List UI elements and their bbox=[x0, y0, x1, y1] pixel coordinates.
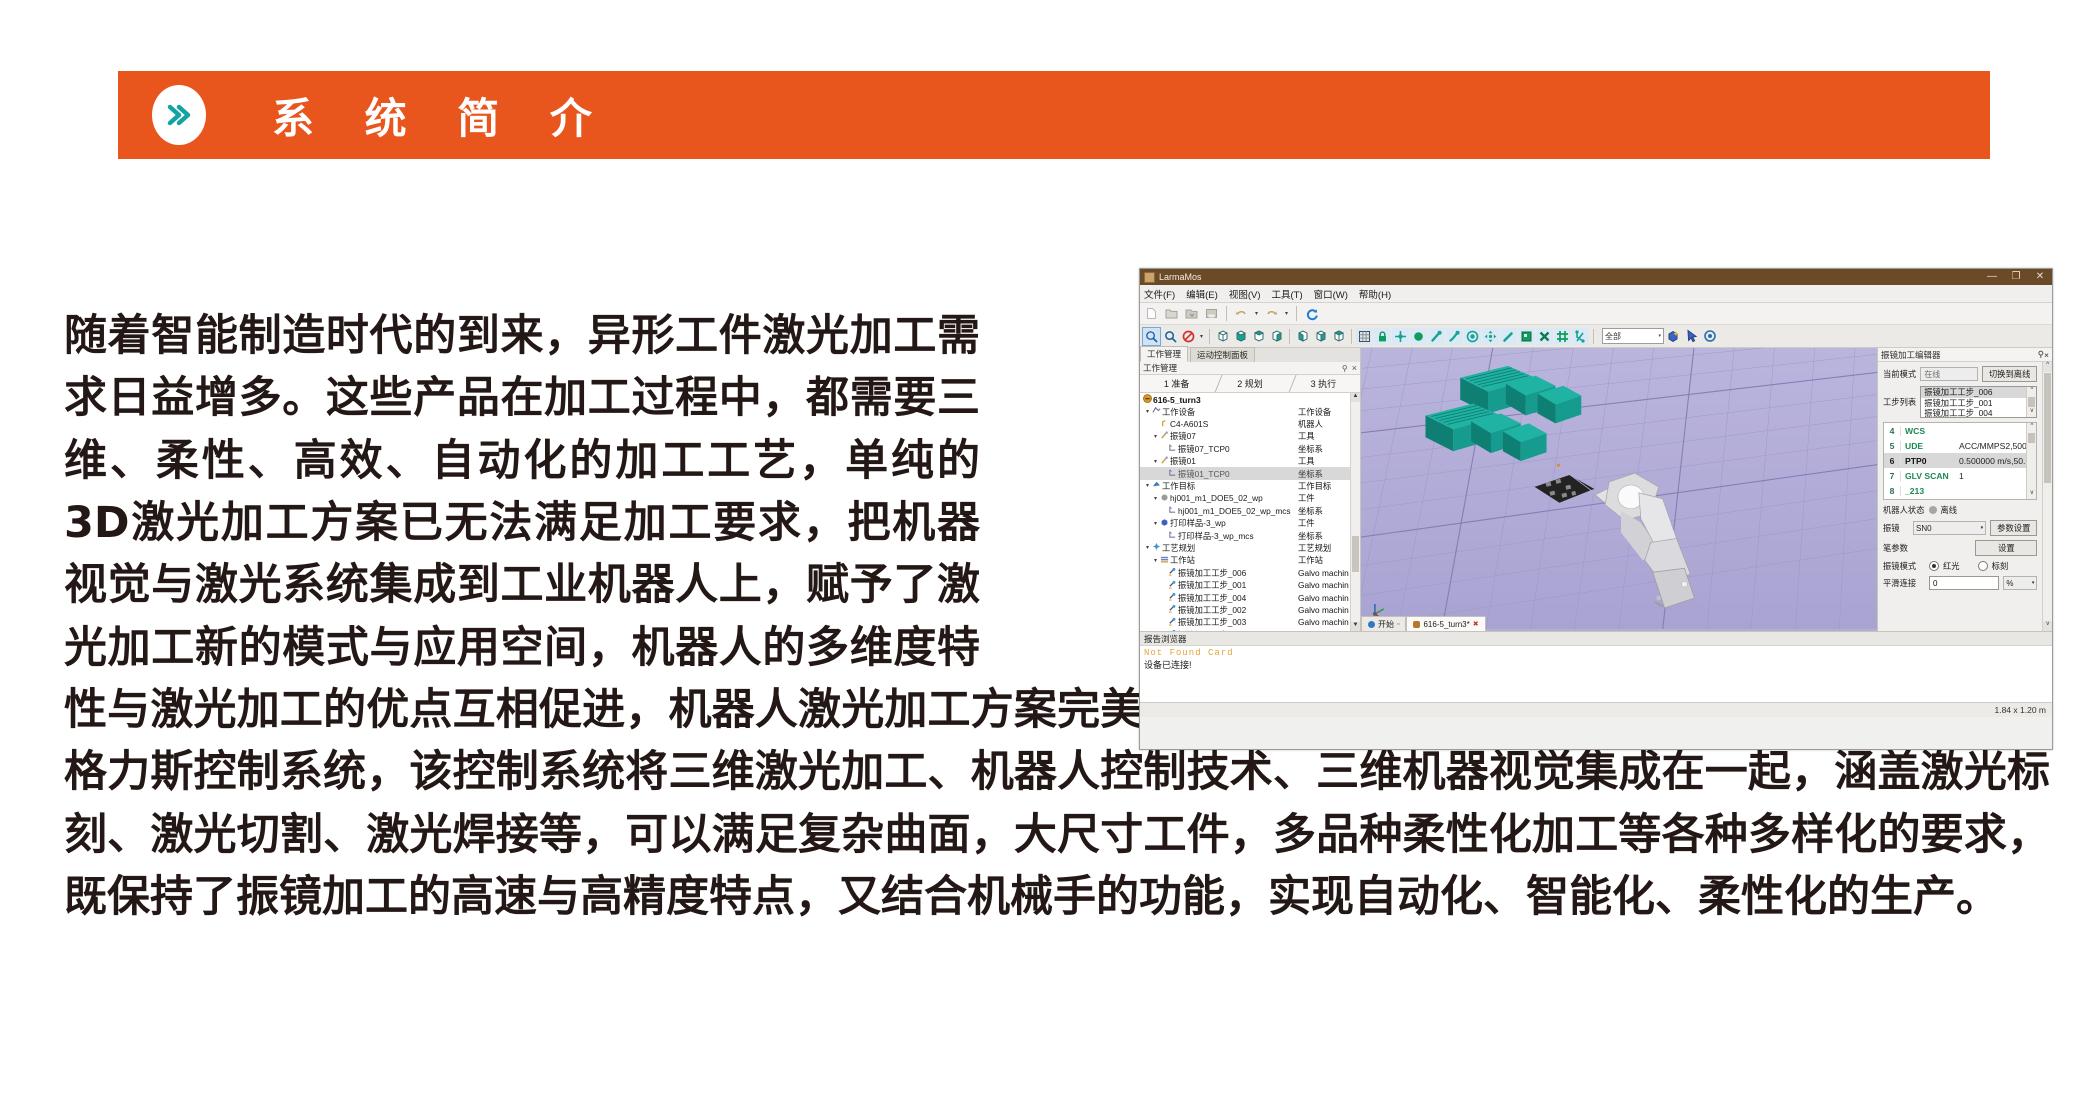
pin-icon[interactable]: ⚲ bbox=[1342, 364, 1348, 373]
3d-viewport[interactable]: 开始 ▫ 616-5_turn3* ✖ bbox=[1361, 348, 1877, 631]
tree-row-label: 振镜加工工步_001 bbox=[1178, 579, 1298, 591]
view-dropdown-icon[interactable]: ▾ bbox=[1198, 328, 1205, 345]
close-icon[interactable]: ✖ bbox=[1473, 620, 1479, 628]
list-item[interactable]: 振镜加工工步_001 bbox=[1921, 398, 2036, 409]
brush-tool-icon[interactable] bbox=[1500, 328, 1517, 345]
new-document-icon[interactable] bbox=[1143, 305, 1160, 322]
tree-row-label: 振镜加工工步_007 bbox=[1178, 629, 1298, 631]
step-listbox[interactable]: 振镜加工工步_006 振镜加工工步_001 振镜加工工步_004 ^ v bbox=[1920, 386, 2037, 418]
command-index: 6 bbox=[1884, 456, 1901, 466]
tree-twisty-icon[interactable]: ▾ bbox=[1152, 458, 1159, 465]
command-opcode: _213 bbox=[1901, 486, 1959, 496]
view-iso3-icon[interactable] bbox=[1330, 328, 1347, 345]
command-opcode: PTP0 bbox=[1901, 456, 1959, 466]
pen-settings-button[interactable]: 设置 bbox=[1975, 540, 2037, 556]
report-browser-body: Not Found Card 设备已连接! bbox=[1140, 646, 2052, 702]
node-tool-icon[interactable] bbox=[1572, 328, 1589, 345]
smooth-input[interactable]: 0 bbox=[1929, 576, 1999, 590]
pen-param-row: 笔参数 设置 bbox=[1883, 540, 2037, 556]
tree-root-label: 616-5_turn3 bbox=[1153, 395, 1201, 405]
select-box-icon[interactable] bbox=[1665, 328, 1682, 345]
smooth-row: 平滑连接 0 % ▾ bbox=[1883, 576, 2037, 590]
command-rows-container: 4WCS5UDEACC/MMPS2,500....6PTP00.500000 m… bbox=[1884, 423, 2036, 500]
scroll-up-icon[interactable]: ^ bbox=[2043, 362, 2052, 372]
tree-scrollbar[interactable]: ▲ ▼ bbox=[1350, 393, 1360, 631]
radio-red-light-label: 红光 bbox=[1943, 560, 1960, 572]
tree-row-label: 振镜加工工步_002 bbox=[1178, 604, 1298, 616]
close-icon[interactable]: ▫ bbox=[1397, 621, 1399, 628]
scroll-down-icon[interactable]: v bbox=[2043, 621, 2052, 631]
tree-twisty-icon[interactable]: ▾ bbox=[1144, 482, 1151, 489]
tree-twisty-icon[interactable]: ▾ bbox=[1144, 408, 1151, 415]
tree-row[interactable]: ▾hj001_m1_DOE5_02_wp工件 bbox=[1140, 492, 1360, 504]
tree-row-label: 工艺规划 bbox=[1162, 542, 1298, 554]
switch-offline-button[interactable]: 切换到离线 bbox=[1982, 366, 2038, 382]
tree-row-label: C4-A601S bbox=[1170, 419, 1298, 429]
left-panel-title: 工作管理 bbox=[1143, 362, 1177, 374]
open-folder-icon[interactable] bbox=[1163, 305, 1180, 322]
mode-row: 当前模式 在线 切换到离线 bbox=[1883, 366, 2037, 382]
cursor-arrow-icon[interactable] bbox=[1683, 328, 1700, 345]
tree-row[interactable]: 振镜加工工步_002Galvo machin bbox=[1140, 604, 1360, 616]
toolbar-separator bbox=[1296, 306, 1297, 321]
view-right-icon[interactable] bbox=[1268, 328, 1285, 345]
application-window-screenshot: LarmaMos — ❐ ✕ 文件(F) 编辑(E) 视图(V) 工具(T) 窗… bbox=[1139, 268, 2053, 750]
command-scrollbar[interactable]: ^ v bbox=[2026, 423, 2036, 499]
menu-item-tools[interactable]: 工具(T) bbox=[1271, 287, 1302, 301]
save-icon[interactable] bbox=[1183, 305, 1200, 322]
scroll-thumb[interactable] bbox=[2028, 397, 2035, 407]
dock-tabstrip: 工作管理 运动控制面板 bbox=[1140, 348, 1360, 362]
tree-row[interactable]: ▾工作站工作站 bbox=[1140, 554, 1360, 566]
command-opcode: WCS bbox=[1901, 426, 1959, 436]
tree-row-label: 工作设备 bbox=[1162, 406, 1298, 418]
scroll-up-icon[interactable]: ▲ bbox=[1351, 393, 1360, 402]
close-icon[interactable]: × bbox=[2044, 350, 2049, 360]
tree-row[interactable]: 打印样品-3_wp_mcs坐标系 bbox=[1140, 529, 1360, 541]
smooth-label: 平滑连接 bbox=[1883, 577, 1925, 589]
delete-tool-icon[interactable] bbox=[1536, 328, 1553, 345]
minimize-button[interactable]: — bbox=[1980, 269, 2004, 285]
scroll-thumb[interactable] bbox=[2044, 373, 2051, 483]
command-row[interactable]: 7GLV SCAN1 bbox=[1884, 468, 2036, 483]
tree-row-label: 振镜01 bbox=[1170, 455, 1298, 467]
tool-icon bbox=[1159, 456, 1170, 467]
toolbar-file-row: ▾ ▾ bbox=[1140, 303, 2052, 325]
scroll-down-icon[interactable]: v bbox=[2027, 490, 2036, 499]
report-line-info: 设备已连接! bbox=[1144, 658, 2048, 671]
radio-marking-label: 标刻 bbox=[1992, 560, 2009, 572]
tool-icon bbox=[1159, 431, 1170, 442]
home-icon bbox=[1368, 621, 1375, 628]
menu-item-file[interactable]: 文件(F) bbox=[1144, 287, 1175, 301]
circle-tool-icon[interactable] bbox=[1464, 328, 1481, 345]
command-opcode: UDE bbox=[1901, 441, 1959, 451]
right-panel-title: 振镜加工编辑器 bbox=[1881, 349, 1941, 361]
galvo-icon bbox=[1167, 592, 1178, 603]
command-index: 5 bbox=[1884, 441, 1901, 451]
zoom-window-icon[interactable] bbox=[1142, 327, 1161, 346]
chevron-down-icon: ▾ bbox=[1981, 525, 1984, 531]
object-tree[interactable]: 616-5_turn3 ▾工作设备工作设备C4-A601S机器人▾振镜07工具振… bbox=[1140, 393, 1360, 631]
workflow-steps: 1 准备 2 规划 3 执行 bbox=[1140, 375, 1360, 393]
point-icon[interactable] bbox=[1410, 328, 1427, 345]
tree-row[interactable]: C4-A601S机器人 bbox=[1140, 418, 1360, 430]
report-browser-titlebar: 报告浏览器 bbox=[1140, 631, 2052, 646]
command-arguments: ACC/MMPS2,500.... bbox=[1959, 441, 2036, 451]
scroll-down-icon[interactable]: v bbox=[2027, 408, 2036, 417]
radio-marking[interactable] bbox=[1978, 561, 1988, 571]
view-iso2-icon[interactable] bbox=[1312, 328, 1329, 345]
param-settings-button[interactable]: 参数设置 bbox=[1990, 520, 2037, 536]
step-plan[interactable]: 2 规划 bbox=[1213, 375, 1286, 392]
toolbar-separator bbox=[1226, 306, 1227, 321]
main-work-area: 工作管理 运动控制面板 工作管理 ⚲ × 1 准备 2 规划 3 执行 616 bbox=[1140, 348, 2052, 631]
listbox-scrollbar[interactable]: ^ v bbox=[2026, 387, 2036, 417]
galvo-mode-label: 振镜模式 bbox=[1883, 560, 1925, 572]
undo-icon[interactable] bbox=[1233, 305, 1250, 322]
redo-dropdown-icon[interactable]: ▾ bbox=[1283, 305, 1290, 322]
command-arguments: 0.500000 m/s,50.... bbox=[1959, 456, 2036, 466]
tree-root-row[interactable]: 616-5_turn3 bbox=[1140, 393, 1360, 405]
steplist-label: 工步列表 bbox=[1883, 396, 1916, 408]
right-panel-scrollbar[interactable]: ^ v bbox=[2042, 362, 2052, 631]
tree-row-label: hj001_m1_DOE5_02_wp_mcs bbox=[1178, 506, 1298, 516]
project-icon bbox=[1142, 394, 1153, 405]
galvo-icon bbox=[1167, 567, 1178, 578]
dock-tab-motion-control[interactable]: 运动控制面板 bbox=[1190, 347, 1255, 362]
tree-twisty-icon[interactable]: ▾ bbox=[1152, 495, 1159, 502]
smooth-unit-select[interactable]: % ▾ bbox=[2003, 576, 2037, 590]
tree-twisty-icon[interactable]: ▾ bbox=[1152, 433, 1159, 440]
tree-row-label: 打印样品-3_wp bbox=[1170, 517, 1298, 529]
page-title: 系 统 简 介 bbox=[272, 85, 610, 146]
command-table[interactable]: 4WCS5UDEACC/MMPS2,500....6PTP00.500000 m… bbox=[1883, 422, 2037, 500]
tree-row[interactable]: 振镜07_TCP0坐标系 bbox=[1140, 443, 1360, 455]
tree-row[interactable]: hj001_m1_DOE5_02_wp_mcs坐标系 bbox=[1140, 505, 1360, 517]
list-item[interactable]: 振镜加工工步_004 bbox=[1921, 408, 2036, 418]
robot-status-row: 机器人状态 离线 bbox=[1883, 504, 2037, 516]
settings-gear-icon[interactable] bbox=[1701, 328, 1718, 345]
step-prepare[interactable]: 1 准备 bbox=[1140, 375, 1213, 392]
report-browser-title: 报告浏览器 bbox=[1144, 633, 1187, 645]
galvo-select[interactable]: SN0 ▾ bbox=[1913, 521, 1986, 535]
station-icon bbox=[1159, 555, 1170, 566]
tree-twisty-icon[interactable]: ▾ bbox=[1144, 544, 1151, 551]
menu-item-edit[interactable]: 编辑(E) bbox=[1186, 287, 1218, 301]
tree-row-label: 振镜01_TCP0 bbox=[1178, 468, 1298, 480]
scroll-thumb[interactable] bbox=[2028, 433, 2035, 443]
status-indicator-dot bbox=[1929, 506, 1937, 514]
robot-icon bbox=[1159, 419, 1170, 430]
surface-tool-icon[interactable] bbox=[1518, 328, 1535, 345]
project-icon bbox=[1413, 621, 1420, 628]
right-dock-panel: 振镜加工编辑器 ⚲ × 当前模式 在线 切换到离线 工步列表 振镜加工工步_00… bbox=[1877, 348, 2052, 631]
window-title: LarmaMos bbox=[1159, 272, 1980, 282]
mode-label: 当前模式 bbox=[1883, 368, 1916, 380]
tree-row-label: 工作站 bbox=[1170, 554, 1298, 566]
report-line-warning: Not Found Card bbox=[1144, 648, 2048, 658]
command-row[interactable]: 8_213 bbox=[1884, 483, 2036, 498]
tree-row-label: 工作目标 bbox=[1162, 480, 1298, 492]
tree-row-label: 振镜07 bbox=[1170, 430, 1298, 442]
maximize-button[interactable]: ❐ bbox=[2004, 269, 2028, 285]
tree-row[interactable]: 振镜加工工步_001Galvo machin bbox=[1140, 579, 1360, 591]
tree-row-label: 振镜07_TCP0 bbox=[1178, 443, 1298, 455]
lock-icon[interactable] bbox=[1374, 328, 1391, 345]
command-index: 4 bbox=[1884, 426, 1901, 436]
tree-row-label: 振镜加工工步_006 bbox=[1178, 567, 1298, 579]
tree-twisty-icon[interactable]: ▾ bbox=[1152, 557, 1159, 564]
save-as-icon[interactable] bbox=[1203, 305, 1220, 322]
window-titlebar: LarmaMos — ❐ ✕ bbox=[1140, 269, 2052, 285]
viewport-tab-label: 开始 bbox=[1378, 619, 1394, 630]
tree-row[interactable]: 振镜加工工步_003Galvo machin bbox=[1140, 616, 1360, 628]
tree-twisty-icon[interactable]: ▾ bbox=[1152, 520, 1159, 527]
viewport-tab-label: 616-5_turn3* bbox=[1423, 620, 1469, 629]
frame-icon bbox=[1167, 468, 1178, 479]
filter-dropdown[interactable]: 全部 ▾ bbox=[1602, 328, 1664, 344]
toolbar-separator bbox=[1593, 329, 1594, 344]
command-row[interactable]: 4WCS bbox=[1884, 423, 2036, 438]
frame-icon bbox=[1167, 530, 1178, 541]
tree-row-label: 打印样品-3_wp_mcs bbox=[1178, 530, 1298, 542]
right-panel-titlebar: 振镜加工编辑器 ⚲ × bbox=[1878, 348, 2052, 362]
galvo-icon bbox=[1167, 580, 1178, 591]
toolbar-separator bbox=[1209, 329, 1210, 344]
part-icon bbox=[1159, 493, 1170, 504]
menubar: 文件(F) 编辑(E) 视图(V) 工具(T) 窗口(W) 帮助(H) bbox=[1140, 285, 2052, 303]
command-index: 7 bbox=[1884, 471, 1901, 481]
pen-param-label: 笔参数 bbox=[1883, 542, 1971, 554]
galvo-icon bbox=[1167, 604, 1178, 615]
robot-status-value: 离线 bbox=[1941, 504, 1958, 516]
refresh-icon[interactable] bbox=[1303, 305, 1320, 322]
zoom-icon[interactable] bbox=[1162, 328, 1179, 345]
toolbar-separator bbox=[1289, 329, 1290, 344]
undo-dropdown-icon[interactable]: ▾ bbox=[1253, 305, 1260, 322]
view-top-icon[interactable] bbox=[1250, 328, 1267, 345]
tree-row-label: 振镜加工工步_004 bbox=[1178, 592, 1298, 604]
close-icon[interactable]: × bbox=[1352, 363, 1357, 373]
galvo-icon bbox=[1167, 629, 1178, 631]
left-panel-titlebar: 工作管理 ⚲ × bbox=[1140, 362, 1360, 375]
command-row[interactable]: 6PTP00.500000 m/s,50.... bbox=[1884, 453, 2036, 468]
galvo-mode-row: 振镜模式 红光 标刻 bbox=[1883, 560, 2037, 572]
grid-icon[interactable] bbox=[1356, 328, 1373, 345]
tree-row-label: 振镜加工工步_003 bbox=[1178, 616, 1298, 628]
redo-icon[interactable] bbox=[1263, 305, 1280, 322]
frame-icon bbox=[1167, 505, 1178, 516]
line-tool-icon[interactable] bbox=[1428, 328, 1445, 345]
viewport-tabstrip: 开始 ▫ 616-5_turn3* ✖ bbox=[1361, 616, 1877, 631]
statusbar: 1.84 x 1.20 m bbox=[1140, 702, 2052, 717]
tree-rows-container: ▾工作设备工作设备C4-A601S机器人▾振镜07工具振镜07_TCP0坐标系▾… bbox=[1140, 405, 1360, 631]
scroll-up-icon[interactable]: ^ bbox=[2027, 423, 2036, 432]
list-item[interactable]: 振镜加工工步_006 bbox=[1921, 387, 2036, 398]
command-row[interactable]: 5UDEACC/MMPS2,500.... bbox=[1884, 438, 2036, 453]
toolbar-separator bbox=[1351, 329, 1352, 344]
dock-tab-work-management[interactable]: 工作管理 bbox=[1140, 346, 1188, 362]
command-arguments: 1 bbox=[1959, 471, 2036, 481]
no-clip-icon[interactable] bbox=[1180, 328, 1197, 345]
double-chevron-right-icon bbox=[152, 85, 206, 145]
galvo-icon bbox=[1167, 617, 1178, 628]
radio-red-light[interactable] bbox=[1929, 561, 1939, 571]
tabstrip-filler bbox=[1486, 616, 1877, 631]
part-blue-icon bbox=[1159, 518, 1170, 529]
app-icon bbox=[1144, 272, 1155, 283]
scroll-down-icon[interactable]: ▼ bbox=[1351, 622, 1360, 631]
tree-row[interactable]: ▾振镜01工具 bbox=[1140, 455, 1360, 467]
view-front-icon[interactable] bbox=[1232, 328, 1249, 345]
view-iso1-icon[interactable] bbox=[1294, 328, 1311, 345]
tree-row[interactable]: 振镜01_TCP0坐标系 bbox=[1140, 467, 1360, 479]
close-button[interactable]: ✕ bbox=[2028, 269, 2052, 285]
galvo-row: 振镜 SN0 ▾ 参数设置 bbox=[1883, 520, 2037, 536]
move-tool-icon[interactable] bbox=[1482, 328, 1499, 345]
statusbar-dimensions: 1.84 x 1.20 m bbox=[1994, 705, 2046, 715]
mode-value-field: 在线 bbox=[1920, 367, 1978, 381]
menu-item-help[interactable]: 帮助(H) bbox=[1359, 287, 1391, 301]
array-tool-icon[interactable] bbox=[1554, 328, 1571, 345]
command-opcode: GLV SCAN bbox=[1901, 471, 1959, 481]
process-icon bbox=[1151, 542, 1162, 553]
chevron-down-icon: ▾ bbox=[2032, 580, 2035, 586]
command-index: 8 bbox=[1884, 486, 1901, 496]
tree-row[interactable]: 振镜加工工步_006Galvo machin bbox=[1140, 567, 1360, 579]
tree-row-label: hj001_m1_DOE5_02_wp bbox=[1170, 493, 1298, 503]
tree-row[interactable]: ▾振镜07工具 bbox=[1140, 430, 1360, 442]
viewport-tab-start[interactable]: 开始 ▫ bbox=[1361, 616, 1406, 631]
view-wireframe-icon[interactable] bbox=[1214, 328, 1231, 345]
chevron-down-icon: ▾ bbox=[1658, 333, 1661, 339]
frame-icon bbox=[1167, 443, 1178, 454]
curve-tool-icon[interactable] bbox=[1446, 328, 1463, 345]
scroll-up-icon[interactable]: ^ bbox=[2027, 387, 2036, 396]
viewport-scene bbox=[1361, 348, 1877, 629]
menu-item-window[interactable]: 窗口(W) bbox=[1314, 287, 1348, 301]
tree-row[interactable]: 振镜加工工步_007Galvo machin bbox=[1140, 628, 1360, 631]
scroll-thumb[interactable] bbox=[1352, 536, 1359, 572]
tree-row[interactable]: ▾工艺规划工艺规划 bbox=[1140, 542, 1360, 554]
tree-row[interactable]: ▾工作设备工作设备 bbox=[1140, 405, 1360, 417]
step-execute[interactable]: 3 执行 bbox=[1287, 375, 1360, 392]
toolbar-view-row: ▾ bbox=[1140, 325, 2052, 348]
device-icon bbox=[1151, 406, 1162, 417]
galvo-label: 振镜 bbox=[1883, 522, 1909, 534]
right-panel-body: 当前模式 在线 切换到离线 工步列表 振镜加工工步_006 振镜加工工步_001… bbox=[1878, 362, 2042, 631]
robot-status-label: 机器人状态 bbox=[1883, 504, 1925, 516]
command-row[interactable]: 9Area1 bbox=[1884, 498, 2036, 500]
origin-point-icon[interactable] bbox=[1392, 328, 1409, 345]
steplist-row: 工步列表 振镜加工工步_006 振镜加工工步_001 振镜加工工步_004 ^ … bbox=[1883, 386, 2037, 418]
viewport-tab-project[interactable]: 616-5_turn3* ✖ bbox=[1406, 616, 1485, 631]
tree-row[interactable]: ▾工作目标工作目标 bbox=[1140, 480, 1360, 492]
left-dock-panel: 工作管理 运动控制面板 工作管理 ⚲ × 1 准备 2 规划 3 执行 616 bbox=[1140, 348, 1361, 631]
tree-row[interactable]: 振镜加工工步_004Galvo machin bbox=[1140, 591, 1360, 603]
target-icon bbox=[1151, 480, 1162, 491]
tree-row[interactable]: ▾打印样品-3_wp工件 bbox=[1140, 517, 1360, 529]
section-header-banner: 系 统 简 介 bbox=[118, 71, 1990, 159]
menu-item-view[interactable]: 视图(V) bbox=[1229, 287, 1261, 301]
